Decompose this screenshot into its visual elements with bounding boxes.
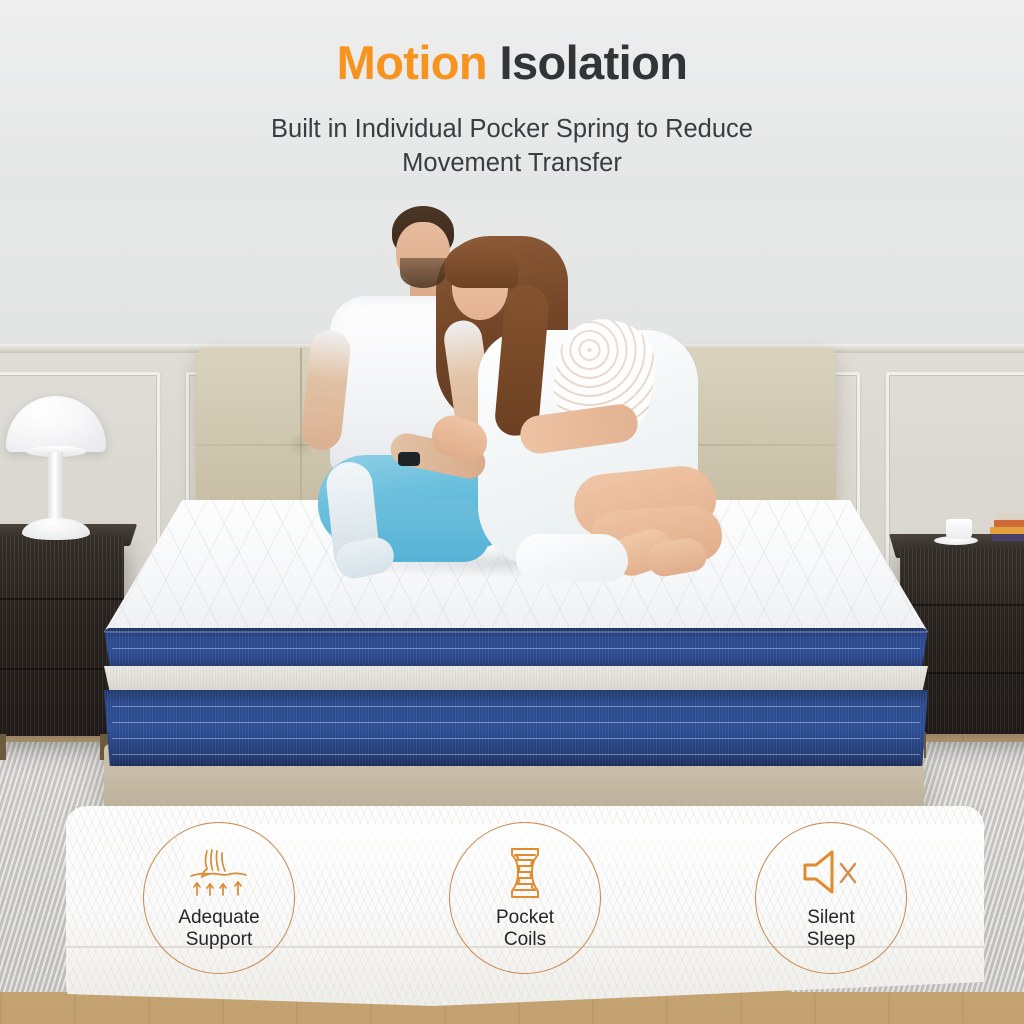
- coffee-cup: [946, 519, 972, 539]
- book-stack-item: [994, 520, 1024, 527]
- title-rest-word: Isolation: [500, 36, 688, 89]
- page-subtitle: Built in Individual Pocker Spring to Red…: [0, 113, 1024, 181]
- book-stack-item: [990, 527, 1024, 534]
- woman-draped-fabric: [516, 534, 628, 582]
- book-stack-item: [992, 534, 1024, 541]
- man-beard: [400, 258, 446, 288]
- mattress-white-band: [104, 666, 928, 692]
- book-stack-item: [996, 513, 1024, 520]
- mattress-navy-upper-band: [104, 628, 928, 668]
- mattress-navy-lower-band: [104, 690, 928, 766]
- feature-panel: [66, 806, 984, 1006]
- panel-fold-line: [66, 946, 984, 948]
- title-accent-word: Motion: [337, 36, 487, 89]
- man-wristwatch: [398, 452, 420, 466]
- table-lamp-stem: [48, 452, 63, 528]
- subtitle-line-1: Built in Individual Pocker Spring to Red…: [0, 113, 1024, 147]
- subtitle-line-2: Movement Transfer: [0, 147, 1024, 181]
- product-marketing-image: Motion Isolation Built in Individual Poc…: [0, 0, 1024, 1024]
- page-title: Motion Isolation: [0, 38, 1024, 87]
- woman-hair-front: [444, 244, 518, 288]
- panel-gloss-highlight: [184, 824, 984, 880]
